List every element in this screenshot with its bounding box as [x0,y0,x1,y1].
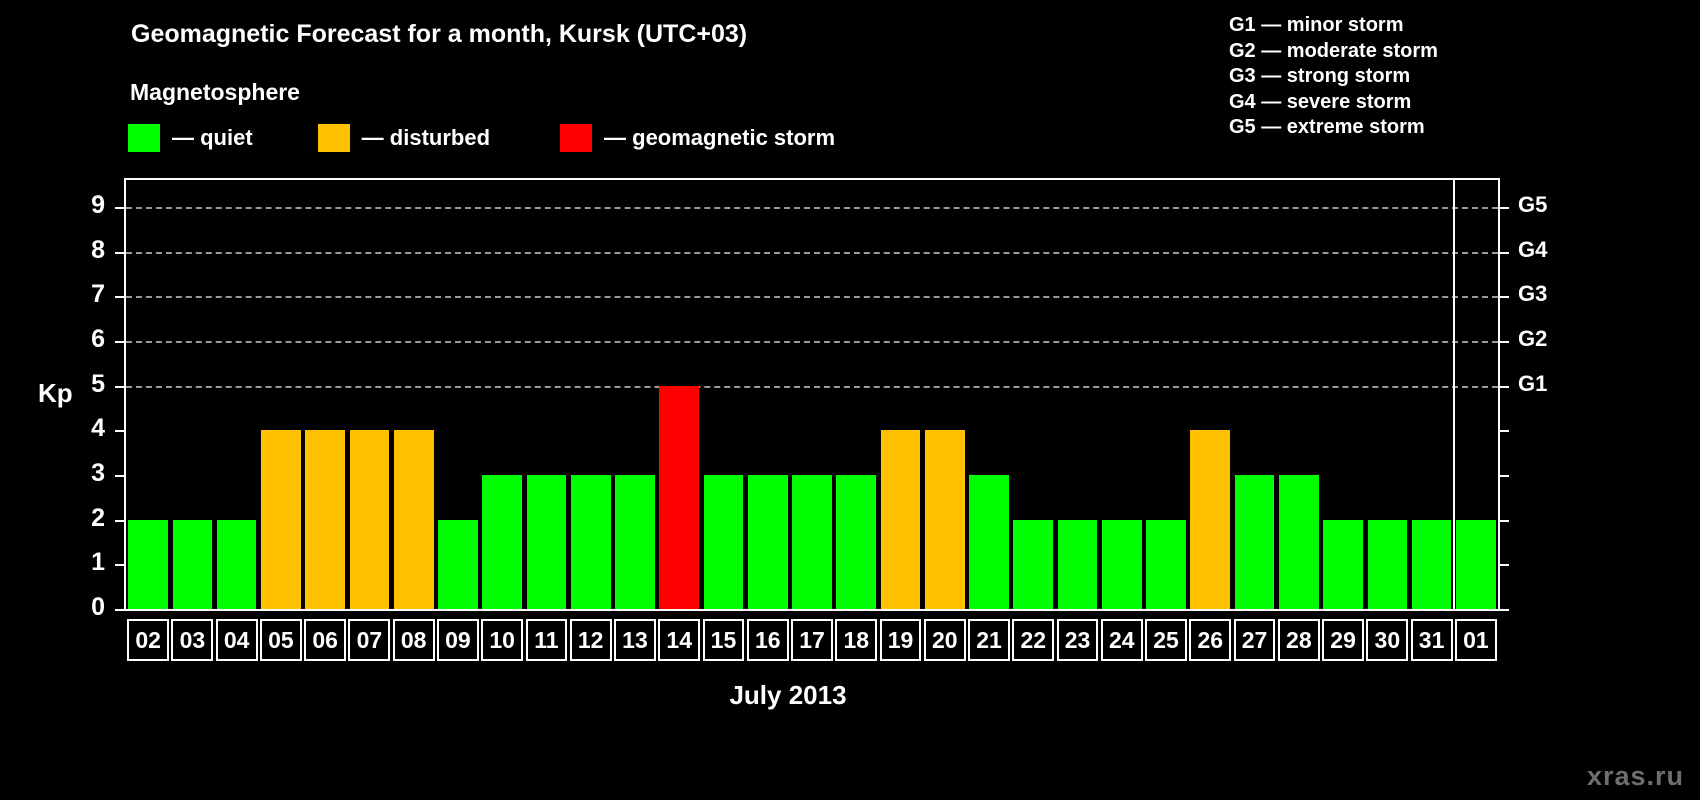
date-label-09[interactable]: 09 [437,619,479,661]
bar[interactable] [1323,520,1363,609]
date-label-24[interactable]: 24 [1101,619,1143,661]
y-axis-tick-label-4: 4 [65,414,105,443]
date-label-15[interactable]: 15 [703,619,745,661]
disturbed-swatch [318,124,350,152]
bar[interactable] [482,475,522,609]
date-label-10[interactable]: 10 [481,619,523,661]
date-label-27[interactable]: 27 [1234,619,1276,661]
bar[interactable] [261,430,301,609]
bar[interactable] [704,475,744,609]
bar[interactable] [1102,520,1142,609]
bar[interactable] [1368,520,1408,609]
legend-item-storm: — geomagnetic storm [560,124,835,152]
date-label-17[interactable]: 17 [791,619,833,661]
bar[interactable] [1190,430,1230,609]
date-label-28[interactable]: 28 [1278,619,1320,661]
bar[interactable] [1456,520,1496,609]
g-scale-legend: G1 — minor storm G2 — moderate storm G3 … [1229,13,1438,141]
y-axis-tick-label-5: 5 [65,370,105,399]
g-scale-line-g4: G4 — severe storm [1229,90,1438,116]
y-axis-tick-label-7: 7 [65,280,105,309]
date-label-26[interactable]: 26 [1189,619,1231,661]
legend-label-storm: — geomagnetic storm [604,125,835,151]
geomagnetic-forecast-chart: Geomagnetic Forecast for a month, Kursk … [0,0,1700,800]
date-label-04[interactable]: 04 [216,619,258,661]
legend-label-disturbed: — disturbed [362,125,490,151]
date-label-22[interactable]: 22 [1012,619,1054,661]
y-axis-tick-label-6: 6 [65,325,105,354]
bar[interactable] [173,520,213,609]
g-axis-tick-label-G4: G4 [1518,237,1547,263]
x-axis-title-text: July 2013 [729,680,846,710]
date-label-23[interactable]: 23 [1057,619,1099,661]
bar[interactable] [217,520,257,609]
date-label-31[interactable]: 31 [1411,619,1453,661]
date-label-05[interactable]: 05 [260,619,302,661]
bar[interactable] [881,430,921,609]
plot-inner [126,180,1498,609]
y-axis-tick-label-2: 2 [65,504,105,533]
bar[interactable] [305,430,345,609]
g-scale-line-g3: G3 — strong storm [1229,64,1438,90]
y-axis-tick-label-9: 9 [65,191,105,220]
date-label-12[interactable]: 12 [570,619,612,661]
legend-label-quiet: — quiet [172,125,253,151]
date-label-20[interactable]: 20 [924,619,966,661]
bar[interactable] [792,475,832,609]
g-scale-line-g1: G1 — minor storm [1229,13,1438,39]
y-axis-tick-label-1: 1 [65,548,105,577]
date-label-21[interactable]: 21 [968,619,1010,661]
date-label-08[interactable]: 08 [393,619,435,661]
page-title: Geomagnetic Forecast for a month, Kursk … [131,20,747,49]
date-label-16[interactable]: 16 [747,619,789,661]
g-scale-line-g2: G2 — moderate storm [1229,39,1438,65]
bar[interactable] [438,520,478,609]
bar-series [126,180,1498,609]
date-label-02[interactable]: 02 [127,619,169,661]
date-label-18[interactable]: 18 [835,619,877,661]
date-label-19[interactable]: 19 [880,619,922,661]
legend-item-disturbed: — disturbed [318,124,490,152]
bar[interactable] [925,430,965,609]
g-axis-tick-label-G2: G2 [1518,326,1547,352]
y-axis-tick-label-8: 8 [65,236,105,265]
bar[interactable] [394,430,434,609]
g-axis-tick-label-G1: G1 [1518,371,1547,397]
bar[interactable] [571,475,611,609]
watermark: xras.ru [1587,761,1684,792]
bar[interactable] [748,475,788,609]
bar[interactable] [659,386,699,609]
bar[interactable] [1013,520,1053,609]
bar[interactable] [350,430,390,609]
date-label-30[interactable]: 30 [1366,619,1408,661]
bar[interactable] [1058,520,1098,609]
bar[interactable] [1146,520,1186,609]
date-label-07[interactable]: 07 [348,619,390,661]
bar[interactable] [1235,475,1275,609]
date-label-29[interactable]: 29 [1322,619,1364,661]
y-axis-tick-label-0: 0 [65,593,105,622]
magnetosphere-legend: — quiet — disturbed — geomagnetic storm [128,124,835,152]
date-label-11[interactable]: 11 [526,619,568,661]
bar[interactable] [527,475,567,609]
date-label-06[interactable]: 06 [304,619,346,661]
date-label-13[interactable]: 13 [614,619,656,661]
date-label-25[interactable]: 25 [1145,619,1187,661]
bar[interactable] [1412,520,1452,609]
g-axis-tick-label-G5: G5 [1518,192,1547,218]
storm-swatch [560,124,592,152]
g-axis-tick-label-G3: G3 [1518,281,1547,307]
date-label-03[interactable]: 03 [171,619,213,661]
bar[interactable] [836,475,876,609]
bar[interactable] [615,475,655,609]
legend-item-quiet: — quiet [128,124,253,152]
bar[interactable] [1279,475,1319,609]
date-label-01[interactable]: 01 [1455,619,1497,661]
g-scale-line-g5: G5 — extreme storm [1229,115,1438,141]
date-label-14[interactable]: 14 [658,619,700,661]
quiet-swatch [128,124,160,152]
month-separator-line [1453,180,1455,609]
magnetosphere-heading: Magnetosphere [130,79,300,106]
bar[interactable] [969,475,1009,609]
plot-area [124,178,1500,611]
bar[interactable] [128,520,168,609]
y-axis-tick-label-3: 3 [65,459,105,488]
x-axis-title: July 2013 [0,680,1700,711]
